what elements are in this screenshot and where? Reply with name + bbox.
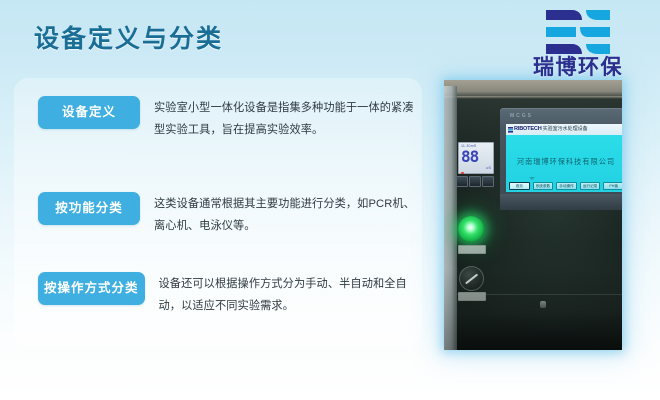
meter-button[interactable] <box>482 176 494 187</box>
meter-value: 88 <box>461 149 478 165</box>
hmi-subtitle-text: 实验室污水处理设备 <box>543 127 588 132</box>
power-indicator-lamp-icon[interactable] <box>458 216 484 242</box>
row-tag-pill[interactable]: 按功能分类 <box>38 192 140 225</box>
hmi-logo-icon <box>508 127 513 133</box>
lamp-label-plate <box>458 245 486 254</box>
content-row: 按功能分类 这类设备通常根据其主要功能进行分类，如PCR机、离心机、电泳仪等。 <box>38 192 428 238</box>
hmi-tab-run-log[interactable]: 运行记录 <box>580 182 601 190</box>
meter-button-row[interactable] <box>456 176 494 187</box>
cabinet-top-bezel <box>444 80 622 96</box>
page-title: 设备定义与分类 <box>34 24 223 54</box>
hmi-brandline: MCGS <box>510 113 533 119</box>
cabinet-left-edge <box>444 86 457 350</box>
digital-meter: 11.30mS 88 uS <box>458 142 494 174</box>
hmi-tab-system-params[interactable]: 系统参数 <box>533 182 554 190</box>
cabinet-door-latch[interactable] <box>540 301 546 308</box>
meter-led-icon <box>461 172 464 174</box>
row-body-text: 实验室小型一体化设备是指集多种功能于一体的紧凑型实验工具，旨在提高实验效率。 <box>154 96 420 142</box>
meter-button[interactable] <box>456 176 468 187</box>
hmi-brand-text: RIBOTECH <box>514 127 542 133</box>
hmi-tab-manual-operation[interactable]: 手动操作 <box>556 182 577 190</box>
meter-unit: uS <box>486 165 491 170</box>
hmi-tab-bar[interactable]: 首页 系统参数 手动操作 运行记录 PH值 <box>509 182 622 190</box>
hmi-tab-home[interactable]: 首页 <box>509 182 530 190</box>
hmi-screen-header: RIBOTECH 实验室污水处理设备 <box>506 124 622 135</box>
rotary-selector-knob[interactable] <box>459 266 484 291</box>
logo-text: 瑞博环保 <box>508 57 648 78</box>
hmi-panel-base <box>500 194 622 210</box>
content-row: 按操作方式分类 设备还可以根据操作方式分为手动、半自动和全自动，以适应不同实验需… <box>38 272 428 318</box>
hmi-company-text: 河南瑞博环保科技有限公司 <box>506 157 622 167</box>
row-body-text: 这类设备通常根据其主要功能进行分类，如PCR机、离心机、电泳仪等。 <box>154 192 420 238</box>
cabinet-door-seam <box>457 294 622 295</box>
content-row: 设备定义 实验室小型一体化设备是指集多种功能于一体的紧凑型实验工具，旨在提高实验… <box>38 96 428 142</box>
hmi-touch-panel[interactable]: MCGS RIBOTECH 实验室污水处理设备 河南瑞博环保科技有限公司 首页 … <box>500 108 622 210</box>
hmi-cursor-icon <box>529 177 535 180</box>
hmi-screen[interactable]: RIBOTECH 实验室污水处理设备 河南瑞博环保科技有限公司 首页 系统参数 … <box>506 124 622 192</box>
brand-logo: 瑞博环保 <box>508 8 648 78</box>
row-tag-pill[interactable]: 设备定义 <box>38 96 140 129</box>
row-body-text: 设备还可以根据操作方式分为手动、半自动和全自动，以适应不同实验需求。 <box>159 272 425 318</box>
equipment-photo: 11.30mS 88 uS MCGS RIBOTECH 实验室污水处理设备 <box>444 80 622 350</box>
ribotech-e-mark-icon <box>542 8 614 56</box>
row-tag-pill[interactable]: 按操作方式分类 <box>38 272 145 305</box>
hmi-tab-ph[interactable]: PH值 <box>603 182 622 190</box>
meter-button[interactable] <box>469 176 481 187</box>
slide-canvas: 设备定义与分类 瑞博环保 设备定义 实验室小型一体化设备是指集多种功能于一体的紧… <box>0 0 660 400</box>
